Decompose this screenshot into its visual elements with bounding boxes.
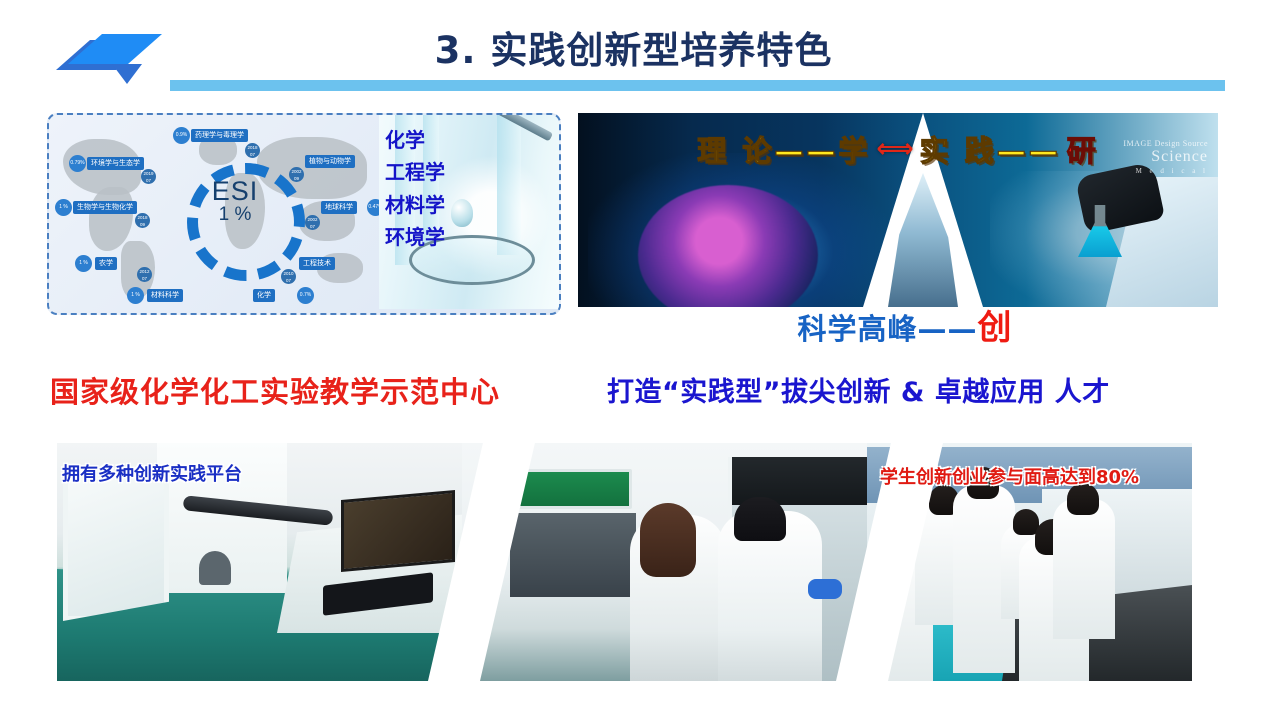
watermark-line-3: M e d i c a l (1123, 167, 1208, 175)
esi-acronym: ESI (187, 177, 283, 205)
caption-participation-rate: 学生创新创业参与面高达到80% (880, 463, 1139, 489)
watermark-line-1: IMAGE Design Source (1123, 139, 1208, 148)
science-peak-caption: 科学高峰——创 (745, 300, 1065, 349)
discipline-year: 2018 07 (245, 143, 260, 158)
discipline-word: 材料学 (385, 189, 445, 221)
image-watermark: IMAGE Design Source Science M e d i c a … (1123, 139, 1208, 175)
esi-percent-value: 1 % (187, 205, 283, 225)
theory-practice-banner: 理 论——学 ⟺ 实 践—— 研 IMAGE Design Source Sci… (578, 113, 1218, 307)
peak-caption-red-char: 创 (978, 308, 1013, 348)
world-map-graphic: ESI 1 % 0.9% 药理学与毒理学 2018 07 0.79% 环境学与生… (49, 115, 389, 309)
title-underline-bar (170, 80, 1225, 91)
discipline-year: 2002 09 (289, 167, 304, 182)
discipline-year: 2019 07 (141, 169, 156, 184)
discipline-label: 药理学与毒理学 (191, 129, 248, 142)
double-arrow-icon: ⟺ (876, 134, 913, 164)
discipline-year: 2010 07 (281, 269, 296, 284)
discipline-year: 2002 07 (305, 215, 320, 230)
headline-national-center: 国家级化学化工实验教学示范中心 (50, 369, 500, 411)
discipline-label: 农学 (95, 257, 117, 270)
discipline-label: 地球科学 (321, 201, 357, 214)
discipline-label: 环境学与生态学 (87, 157, 144, 170)
discipline-label: 生物学与生物化学 (73, 201, 137, 214)
discipline-percent: 1 % (75, 255, 92, 272)
discipline-word: 工程学 (385, 156, 445, 188)
banner-headline: 理 论——学 ⟺ 实 践—— 研 (578, 123, 1218, 175)
discipline-word: 环境学 (385, 221, 445, 253)
slide-canvas: 3. 实践创新型培养特色 ESI 1 % 0.9% 药理学与毒理学 2018 0… (0, 0, 1267, 713)
banner-practice-text: 实 践—— (920, 128, 1061, 170)
watermark-line-2: Science (1123, 148, 1208, 166)
discipline-percent: 0.79% (69, 155, 86, 172)
esi-center-label: ESI 1 % (187, 177, 283, 225)
glove-icon (808, 579, 842, 599)
discipline-percent: 0.7% (297, 287, 314, 304)
discipline-label: 材料科学 (147, 289, 183, 302)
student-figure (1053, 499, 1115, 639)
droplet-icon (451, 199, 473, 227)
headline-talent-cultivation: 打造“实践型”拔尖创新 & 卓越应用 人才 (607, 370, 1110, 409)
caption-innovation-platform: 拥有多种创新实践平台 (62, 460, 242, 486)
discipline-percent: 1 % (55, 199, 72, 216)
esi-infographic-panel: ESI 1 % 0.9% 药理学与毒理学 2018 07 0.79% 环境学与生… (47, 113, 561, 315)
discipline-word: 化学 (385, 124, 445, 156)
discipline-label: 化学 (253, 289, 275, 302)
discipline-percent: 1 % (127, 287, 144, 304)
banner-theory-text: 理 论——学 (697, 128, 870, 170)
peak-caption-text: 科学高峰—— (797, 312, 977, 346)
banner-research-char: 研 (1067, 128, 1099, 170)
discipline-percent: 0.9% (173, 127, 190, 144)
discipline-label: 工程技术 (299, 257, 335, 270)
discipline-year: 2018 09 (135, 213, 150, 228)
discipline-label: 植物与动物学 (305, 155, 355, 168)
discipline-word-list: 化学 工程学 材料学 环境学 (385, 124, 445, 254)
discipline-year: 2012 07 (137, 267, 152, 282)
page-title: 3. 实践创新型培养特色 (0, 20, 1267, 74)
monitor-icon (341, 490, 455, 572)
